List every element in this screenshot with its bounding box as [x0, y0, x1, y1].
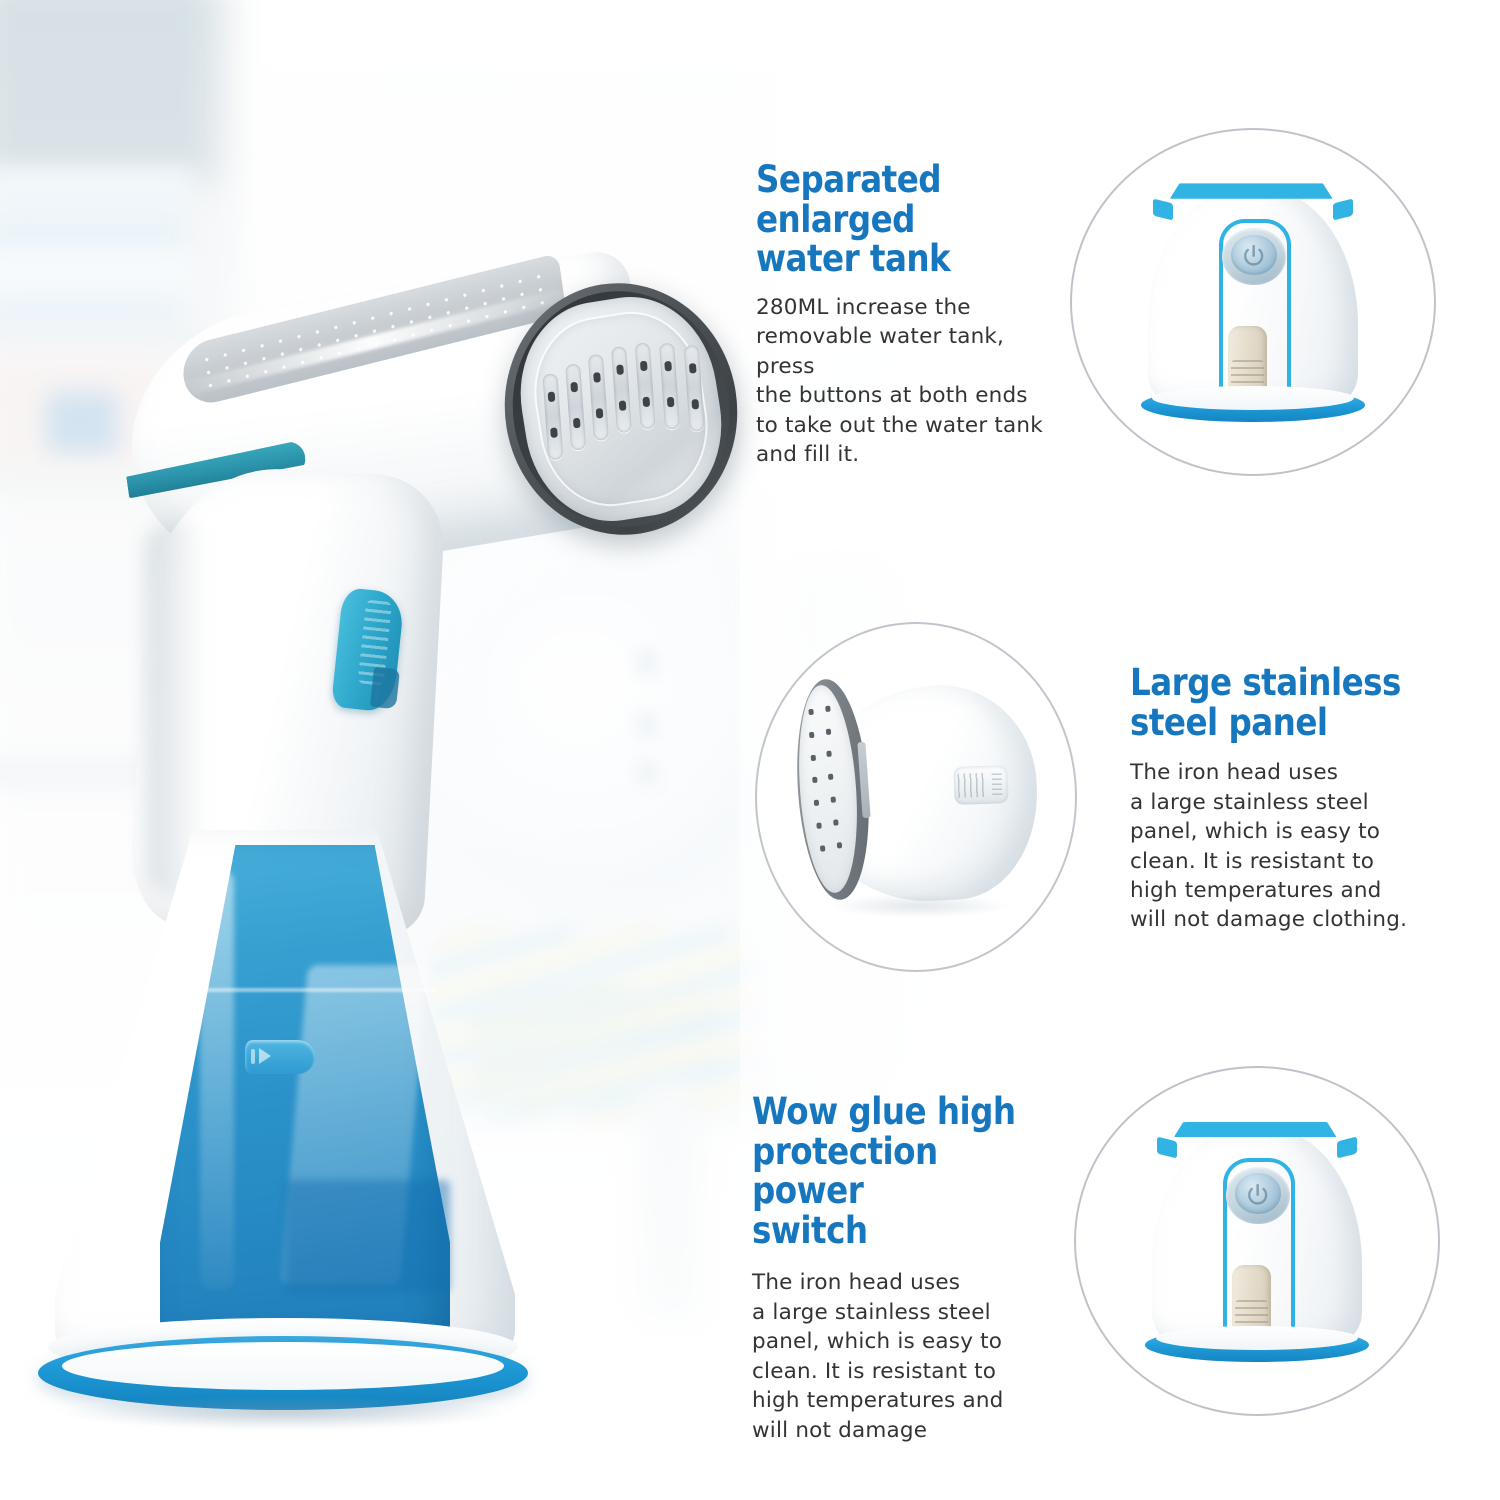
power-button[interactable]: [1231, 235, 1276, 276]
power-switch-illustration: [1076, 1068, 1438, 1414]
feature-title: Separated enlarged water tank: [756, 160, 1031, 279]
water-tank-shadow: [286, 1180, 450, 1292]
tank-release-button-left[interactable]: [1157, 1136, 1177, 1158]
feature-block-power-switch: Wow glue high protection power switch Th…: [752, 1092, 1052, 1445]
tank-top-edge: [1174, 1122, 1337, 1138]
iron-head-shadow: [827, 894, 1011, 918]
callout-power-switch-photo: [1074, 1066, 1440, 1416]
power-icon: [1241, 243, 1266, 268]
water-tank-release-tab[interactable]: [245, 1040, 315, 1074]
water-level-line: [176, 988, 438, 992]
product-floor-shadow: [60, 1396, 510, 1430]
feature-description: The iron head uses a large stainless ste…: [752, 1268, 1052, 1445]
product-feature-infographic: Separated enlarged water tank 280ML incr…: [0, 0, 1500, 1500]
iron-head-slider-switch[interactable]: [954, 765, 1009, 805]
callout-water-tank-base-photo: [1070, 128, 1436, 476]
tank-base-ring-inner: [1156, 1326, 1359, 1350]
feature-title: Wow glue high protection power switch: [752, 1092, 1016, 1250]
tank-release-button-right[interactable]: [1333, 198, 1353, 220]
feature-description: The iron head uses a large stainless ste…: [1130, 758, 1460, 935]
power-icon: [1245, 1182, 1270, 1207]
tank-base-illustration: [1072, 130, 1434, 474]
callout-iron-head-photo: [755, 622, 1077, 972]
feature-description: 280ML increase the removable water tank,…: [756, 293, 1068, 470]
water-tank-highlight: [200, 870, 234, 1290]
tank-release-button-left[interactable]: [1153, 198, 1173, 220]
tank-release-button-right[interactable]: [1337, 1136, 1357, 1158]
handheld-steamer-hero: [0, 0, 790, 1500]
stainless-steam-plate: [507, 285, 735, 533]
tank-top-edge: [1170, 183, 1333, 198]
steam-trigger-shadow: [370, 667, 400, 709]
power-button[interactable]: [1235, 1173, 1280, 1214]
iron-head-illustration: [757, 624, 1075, 970]
base-ring-inner-white: [62, 1342, 504, 1390]
feature-title: Large stainless steel panel: [1130, 663, 1420, 742]
feature-block-water-tank: Separated enlarged water tank 280ML incr…: [756, 160, 1068, 469]
feature-block-steel-panel: Large stainless steel panel The iron hea…: [1130, 663, 1460, 935]
